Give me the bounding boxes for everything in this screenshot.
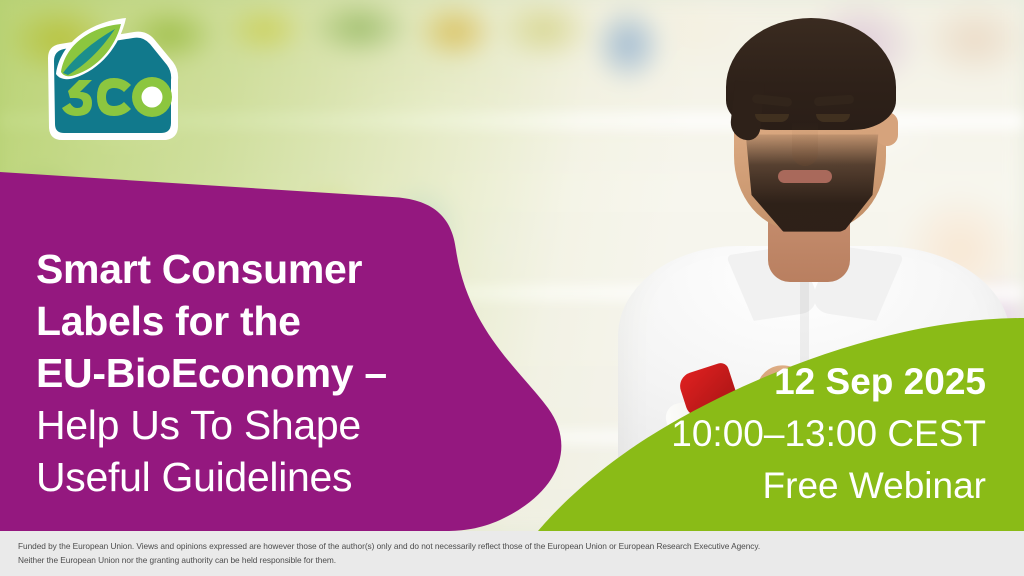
disclaimer-line-1: Funded by the European Union. Views and … [18, 540, 1006, 554]
event-type: Free Webinar [671, 460, 986, 512]
nose [792, 122, 818, 166]
event-time: 10:00–13:00 CEST [671, 408, 986, 460]
eye-left [755, 114, 789, 122]
event-date: 12 Sep 2025 [671, 356, 986, 408]
3co-logo [30, 18, 180, 146]
hair [726, 18, 896, 130]
event-details: 12 Sep 2025 10:00–13:00 CEST Free Webina… [671, 356, 986, 512]
headline-line-1: Smart Consumer [36, 243, 466, 295]
headline-line-2: Labels for the [36, 295, 466, 347]
mouth [778, 170, 832, 183]
funding-disclaimer: Funded by the European Union. Views and … [0, 531, 1024, 576]
headline-line-3: EU-BioEconomy – [36, 347, 466, 399]
headline-line-4: Help Us To Shape [36, 399, 466, 451]
eye-right [816, 114, 850, 122]
webinar-promo-poster: Smart Consumer Labels for the EU-BioEcon… [0, 0, 1024, 576]
headline-line-5: Useful Guidelines [36, 451, 466, 503]
logo-o-counter [142, 87, 163, 108]
headline: Smart Consumer Labels for the EU-BioEcon… [36, 243, 466, 503]
disclaimer-line-2: Neither the European Union nor the grant… [18, 554, 1006, 568]
